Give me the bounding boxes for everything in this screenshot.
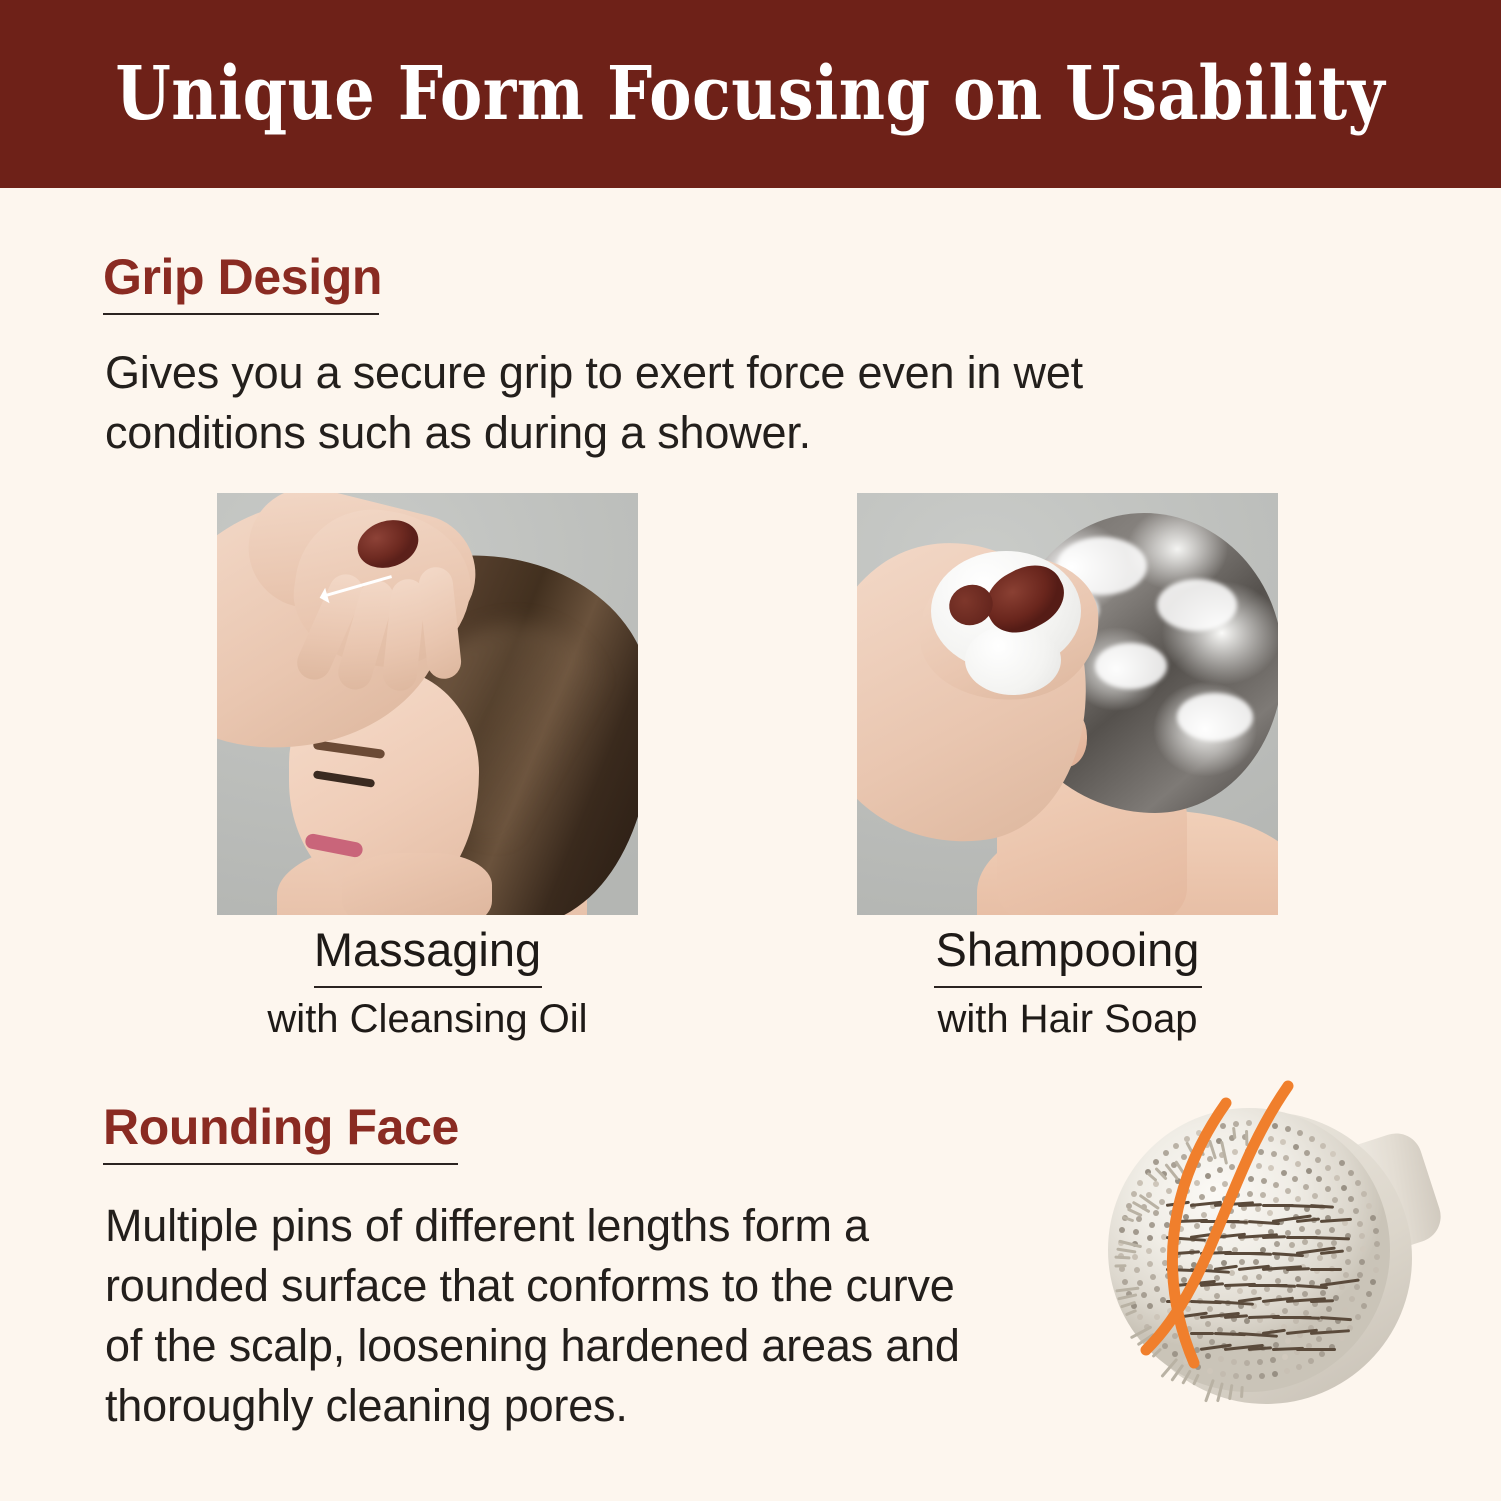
brush-pin bbox=[1141, 1292, 1147, 1298]
brush-pin bbox=[1348, 1196, 1354, 1202]
brush-pin bbox=[1299, 1226, 1305, 1232]
brush-pin bbox=[1153, 1181, 1159, 1187]
brush-pin bbox=[1346, 1246, 1352, 1252]
brush-pin bbox=[1167, 1308, 1173, 1314]
brush-pin-long bbox=[1200, 1282, 1224, 1287]
brush-pin-long bbox=[1248, 1252, 1272, 1256]
brush-pin bbox=[1210, 1186, 1216, 1192]
brush-pin bbox=[1169, 1285, 1175, 1291]
brush-pin bbox=[1229, 1164, 1235, 1170]
brush-pin bbox=[1154, 1286, 1160, 1292]
photo-massaging bbox=[217, 493, 638, 915]
brush-pin-long bbox=[1190, 1332, 1214, 1335]
brush-pin bbox=[1229, 1270, 1235, 1276]
brush-pin bbox=[1133, 1229, 1139, 1235]
brush-pin bbox=[1228, 1208, 1234, 1214]
body-line: Gives you a secure grip to exert force e… bbox=[105, 343, 1083, 403]
brush-pin bbox=[1233, 1373, 1239, 1379]
brush-pin bbox=[1178, 1226, 1184, 1232]
brush-pin-long bbox=[1166, 1201, 1190, 1207]
brush-pin bbox=[1196, 1274, 1202, 1280]
brush-pin bbox=[1274, 1241, 1280, 1247]
brush-pin bbox=[1306, 1168, 1312, 1174]
brush-pin bbox=[1256, 1274, 1262, 1280]
brush-pin bbox=[1315, 1229, 1321, 1235]
brush-pin bbox=[1349, 1296, 1355, 1302]
brush-pin-outer bbox=[1146, 1172, 1157, 1182]
body-copy-grip-design: Gives you a secure grip to exert force e… bbox=[105, 343, 1083, 463]
brush-pin bbox=[1163, 1150, 1169, 1156]
brush-pin bbox=[1147, 1303, 1153, 1309]
brush-pin-outer bbox=[1126, 1208, 1142, 1217]
brush-pin bbox=[1191, 1262, 1197, 1268]
brush-pin bbox=[1339, 1335, 1345, 1341]
brush-pin bbox=[1232, 1149, 1238, 1155]
brush-pin bbox=[1172, 1333, 1178, 1339]
body-line: rounded surface that conforms to the cur… bbox=[105, 1256, 960, 1316]
brush-pin bbox=[1361, 1191, 1367, 1197]
caption-massaging: Massaging with Cleansing Oil bbox=[217, 925, 638, 1040]
caption-sub: with Hair Soap bbox=[857, 998, 1278, 1040]
brush-pin bbox=[1184, 1188, 1190, 1194]
brush-pin bbox=[1162, 1343, 1168, 1349]
brush-pin bbox=[1272, 1371, 1278, 1377]
brush-pin bbox=[1295, 1161, 1301, 1167]
brush-pin bbox=[1339, 1284, 1345, 1290]
brush-pin bbox=[1235, 1177, 1241, 1183]
caption-rule bbox=[934, 986, 1202, 988]
brush-pin-long bbox=[1296, 1316, 1320, 1320]
brush-pin bbox=[1172, 1351, 1178, 1357]
brush-pin bbox=[1119, 1227, 1125, 1233]
brush-pin bbox=[1246, 1120, 1252, 1126]
brush-pin bbox=[1253, 1259, 1259, 1265]
section-heading-rounding-face: Rounding Face bbox=[103, 1102, 459, 1152]
lather-blob bbox=[1177, 693, 1253, 741]
brush-pin bbox=[1268, 1136, 1274, 1142]
brush-pin bbox=[1268, 1165, 1274, 1171]
header-banner: Unique Form Focusing on Usability bbox=[0, 0, 1501, 188]
brush-pin bbox=[1164, 1222, 1170, 1228]
brush-pin bbox=[1361, 1303, 1367, 1309]
brush-pin bbox=[1257, 1359, 1263, 1365]
brush-pin-long bbox=[1310, 1299, 1334, 1303]
brush-pin bbox=[1295, 1196, 1301, 1202]
brush-pin bbox=[1359, 1233, 1365, 1239]
brush-pin bbox=[1159, 1199, 1165, 1205]
brush-pin bbox=[1303, 1184, 1309, 1190]
brush-pin-long bbox=[1296, 1348, 1336, 1351]
brush-pin bbox=[1338, 1208, 1344, 1214]
brush-pin bbox=[1137, 1280, 1143, 1286]
brush-pin bbox=[1208, 1126, 1214, 1132]
brush-pin-outer bbox=[1185, 1141, 1193, 1153]
brush-pin bbox=[1243, 1162, 1249, 1168]
brush-pin bbox=[1205, 1353, 1211, 1359]
brush-pin bbox=[1165, 1273, 1171, 1279]
brush-pin bbox=[1332, 1197, 1338, 1203]
brush-pin bbox=[1273, 1182, 1279, 1188]
brush-pin-outer bbox=[1245, 1130, 1248, 1146]
body-line: thoroughly cleaning pores. bbox=[105, 1376, 960, 1436]
brush-pin bbox=[1355, 1180, 1361, 1186]
lather-blob bbox=[1157, 579, 1237, 631]
brush-pin bbox=[1341, 1185, 1347, 1191]
brush-pin bbox=[1248, 1176, 1254, 1182]
caption-rule bbox=[314, 986, 542, 988]
brush-pin bbox=[1205, 1173, 1211, 1179]
brush-pin bbox=[1231, 1359, 1237, 1365]
brush-pin bbox=[1271, 1151, 1277, 1157]
caption-sub: with Cleansing Oil bbox=[217, 998, 638, 1040]
brush-pin-outer bbox=[1122, 1215, 1134, 1222]
brush-pin bbox=[1166, 1188, 1172, 1194]
brush-pin bbox=[1207, 1306, 1213, 1312]
brush-pin bbox=[1319, 1351, 1325, 1357]
brush-pin bbox=[1355, 1314, 1361, 1320]
brush-pin bbox=[1194, 1223, 1200, 1229]
brush-pin bbox=[1366, 1203, 1372, 1209]
brush-pin bbox=[1370, 1279, 1376, 1285]
brush-pin bbox=[1270, 1357, 1276, 1363]
brush-pin bbox=[1153, 1159, 1159, 1165]
brush-pin bbox=[1234, 1192, 1240, 1198]
brush-pin-outer bbox=[1232, 1127, 1236, 1139]
brush-pin-outer bbox=[1152, 1347, 1163, 1357]
brush-pin bbox=[1132, 1254, 1138, 1260]
brush-pin bbox=[1325, 1165, 1331, 1171]
heading-rule-grip-design bbox=[103, 313, 379, 315]
brush-pin-long bbox=[1286, 1267, 1310, 1271]
body-line: of the scalp, loosening hardened areas a… bbox=[105, 1316, 960, 1376]
brush-pin bbox=[1283, 1155, 1289, 1161]
brush-pin bbox=[1245, 1148, 1251, 1154]
brush-pin bbox=[1237, 1288, 1243, 1294]
brush-pin bbox=[1149, 1222, 1155, 1228]
brush-pin bbox=[1285, 1338, 1291, 1344]
brush-pin bbox=[1280, 1139, 1286, 1145]
brush-pin-long bbox=[1310, 1236, 1350, 1240]
brush-pin bbox=[1317, 1255, 1323, 1261]
brush-pin bbox=[1256, 1163, 1262, 1169]
brush-pin bbox=[1302, 1291, 1308, 1297]
brush-pin bbox=[1181, 1154, 1187, 1160]
brush-pin-face bbox=[1108, 1108, 1390, 1392]
body-line: Multiple pins of different lengths form … bbox=[105, 1196, 960, 1256]
caption-main: Massaging bbox=[217, 925, 638, 974]
brush-pin bbox=[1182, 1341, 1188, 1347]
brush-pin bbox=[1153, 1210, 1159, 1216]
brush-pin bbox=[1272, 1123, 1278, 1129]
lather-blob bbox=[1095, 643, 1167, 689]
brush-pin bbox=[1134, 1267, 1140, 1273]
brush-pin bbox=[1329, 1227, 1335, 1233]
brush-pin bbox=[1194, 1180, 1200, 1186]
brush-pin bbox=[1122, 1279, 1128, 1285]
brush-pin bbox=[1136, 1216, 1142, 1222]
brush-pin bbox=[1221, 1260, 1227, 1266]
brush-pin bbox=[1312, 1193, 1318, 1199]
brush-pin bbox=[1209, 1339, 1215, 1345]
brush-pin bbox=[1285, 1188, 1291, 1194]
brush-pin bbox=[1345, 1259, 1351, 1265]
brush-pin bbox=[1304, 1150, 1310, 1156]
brush-pin bbox=[1334, 1175, 1340, 1181]
brush-pin bbox=[1222, 1181, 1228, 1187]
brush-pin-long bbox=[1272, 1284, 1296, 1288]
brush-pin bbox=[1205, 1321, 1211, 1327]
brush-pin bbox=[1316, 1336, 1322, 1342]
brush-pin bbox=[1316, 1176, 1322, 1182]
brush-pin bbox=[1255, 1134, 1261, 1140]
brush-pin bbox=[1354, 1284, 1360, 1290]
brush-pin bbox=[1258, 1149, 1264, 1155]
brush-pin bbox=[1169, 1210, 1175, 1216]
brush-pin bbox=[1295, 1276, 1301, 1282]
brush-pin-long bbox=[1166, 1300, 1190, 1303]
brush-pin bbox=[1296, 1364, 1302, 1370]
brush-pin bbox=[1147, 1261, 1153, 1267]
brush-pin bbox=[1154, 1314, 1160, 1320]
brush-pin bbox=[1315, 1157, 1321, 1163]
brush-pin bbox=[1360, 1246, 1366, 1252]
brush-pin bbox=[1194, 1347, 1200, 1353]
brush-pin bbox=[1195, 1364, 1201, 1370]
brush-pin bbox=[1173, 1143, 1179, 1149]
brush-pin bbox=[1230, 1223, 1236, 1229]
brush-pin bbox=[1325, 1186, 1331, 1192]
brush-pin bbox=[1162, 1260, 1168, 1266]
brush-pin bbox=[1267, 1210, 1273, 1216]
neck-shape bbox=[342, 853, 492, 915]
page-title: Unique Form Focusing on Usability bbox=[116, 57, 1386, 131]
brush-pin-long bbox=[1224, 1220, 1248, 1224]
brush-pin-long bbox=[1262, 1235, 1286, 1239]
brush-pin-outer bbox=[1117, 1293, 1137, 1300]
caption-main: Shampooing bbox=[857, 925, 1278, 974]
brush-pin bbox=[1137, 1314, 1143, 1320]
brush-pin bbox=[1214, 1293, 1220, 1299]
brush-pin bbox=[1374, 1254, 1380, 1260]
product-image-scalp-brush bbox=[1086, 1078, 1501, 1478]
brush-pin bbox=[1343, 1272, 1349, 1278]
brush-pin bbox=[1285, 1126, 1291, 1132]
brush-pin bbox=[1150, 1274, 1156, 1280]
brush-pin bbox=[1185, 1306, 1191, 1312]
caption-shampooing: Shampooing with Hair Soap bbox=[857, 925, 1278, 1040]
brush-pin bbox=[1222, 1196, 1228, 1202]
foam-on-hand bbox=[965, 625, 1061, 695]
brush-pin bbox=[1373, 1267, 1379, 1273]
brush-pin bbox=[1199, 1194, 1205, 1200]
brush-pin bbox=[1359, 1259, 1365, 1265]
brush-pin bbox=[1366, 1291, 1372, 1297]
brush-pin bbox=[1201, 1212, 1207, 1218]
brush-pin bbox=[1261, 1178, 1267, 1184]
brush-pin-outer bbox=[1118, 1239, 1142, 1248]
brush-pin bbox=[1342, 1307, 1348, 1313]
brush-pin bbox=[1339, 1160, 1345, 1166]
brush-pin bbox=[1260, 1192, 1266, 1198]
brush-pin bbox=[1330, 1151, 1336, 1157]
brush-pin bbox=[1163, 1324, 1169, 1330]
brush-pin bbox=[1146, 1192, 1152, 1198]
brush-pin bbox=[1246, 1374, 1252, 1380]
brush-pin bbox=[1374, 1241, 1380, 1247]
brush-pin-long bbox=[1310, 1268, 1342, 1271]
brush-pin bbox=[1331, 1240, 1337, 1246]
brush-pin bbox=[1251, 1289, 1257, 1295]
brush-pin bbox=[1292, 1176, 1298, 1182]
brush-pin bbox=[1183, 1358, 1189, 1364]
brush-pin bbox=[1357, 1221, 1363, 1227]
brush-pin bbox=[1239, 1259, 1245, 1265]
brush-pin bbox=[1353, 1208, 1359, 1214]
body-copy-rounding-face: Multiple pins of different lengths form … bbox=[105, 1196, 960, 1435]
brush-pin bbox=[1220, 1371, 1226, 1377]
brush-pin bbox=[1284, 1368, 1290, 1374]
brush-pin bbox=[1282, 1308, 1288, 1314]
body-line: conditions such as during a shower. bbox=[105, 403, 1083, 463]
brush-pin bbox=[1282, 1354, 1288, 1360]
brush-pin bbox=[1357, 1272, 1363, 1278]
brush-pin bbox=[1146, 1248, 1152, 1254]
brush-pin bbox=[1373, 1228, 1379, 1234]
brush-pin bbox=[1188, 1288, 1194, 1294]
heading-rule-rounding-face bbox=[103, 1163, 458, 1165]
brush-pin-outer bbox=[1115, 1264, 1127, 1267]
brush-pin bbox=[1147, 1235, 1153, 1241]
brush-pin bbox=[1233, 1121, 1239, 1127]
brush-pin bbox=[1297, 1130, 1303, 1136]
brush-pin bbox=[1247, 1191, 1253, 1197]
brush-pin bbox=[1196, 1130, 1202, 1136]
brush-pin bbox=[1289, 1242, 1295, 1248]
brush-pin bbox=[1207, 1368, 1213, 1374]
brush-pin-outer bbox=[1115, 1256, 1131, 1260]
brush-pin bbox=[1348, 1170, 1354, 1176]
brush-pin bbox=[1244, 1360, 1250, 1366]
brush-pin bbox=[1285, 1230, 1291, 1236]
brush-pin-long bbox=[1176, 1250, 1200, 1255]
brush-pin bbox=[1137, 1180, 1143, 1186]
brush-pin bbox=[1218, 1356, 1224, 1362]
brush-pin bbox=[1259, 1373, 1265, 1379]
brush-pin bbox=[1326, 1306, 1332, 1312]
brush-pin bbox=[1370, 1215, 1376, 1221]
brush-pin bbox=[1255, 1206, 1261, 1212]
brush-pin bbox=[1331, 1253, 1337, 1259]
brush-pin bbox=[1242, 1275, 1248, 1281]
brush-pin bbox=[1217, 1167, 1223, 1173]
brush-pin bbox=[1293, 1144, 1299, 1150]
brush-pin bbox=[1209, 1226, 1215, 1232]
brush-pin bbox=[1320, 1290, 1326, 1296]
brush-pin bbox=[1207, 1156, 1213, 1162]
brush-pin bbox=[1259, 1121, 1265, 1127]
brush-pin bbox=[1309, 1136, 1315, 1142]
brush-pin bbox=[1195, 1162, 1201, 1168]
brush-pin-outer bbox=[1125, 1309, 1137, 1316]
brush-pin bbox=[1131, 1191, 1137, 1197]
brush-pin bbox=[1302, 1239, 1308, 1245]
brush-pin bbox=[1160, 1247, 1166, 1253]
brush-pin bbox=[1281, 1170, 1287, 1176]
brush-pin bbox=[1220, 1123, 1226, 1129]
brush-pin bbox=[1273, 1197, 1279, 1203]
photo-shampooing bbox=[857, 493, 1278, 915]
brush-pin bbox=[1320, 1143, 1326, 1149]
section-heading-grip-design: Grip Design bbox=[103, 252, 382, 302]
brush-pin bbox=[1308, 1358, 1314, 1364]
brush-pin-long bbox=[1248, 1346, 1272, 1351]
